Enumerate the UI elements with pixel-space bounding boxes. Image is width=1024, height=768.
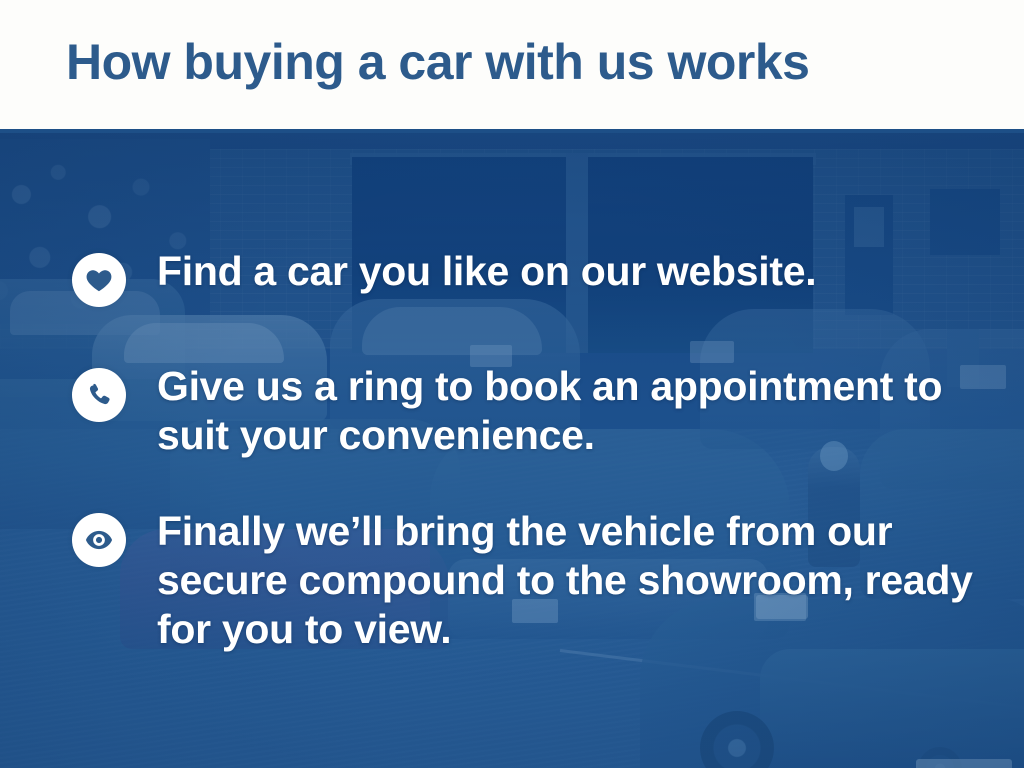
eye-icon [72, 513, 126, 567]
promo-slide: How buying a car with us works Find a ca… [0, 0, 1024, 768]
list-item-step-2: Give us a ring to book an appointment to… [72, 362, 997, 460]
header-band: How buying a car with us works [0, 0, 1024, 129]
heart-icon [72, 253, 126, 307]
list-item-step-1: Find a car you like on our website. [72, 247, 816, 307]
phone-icon [72, 368, 126, 422]
step-text: Find a car you like on our website. [157, 247, 816, 296]
step-text: Give us a ring to book an appointment to… [157, 362, 997, 460]
page-title: How buying a car with us works [66, 35, 809, 90]
steps-list: Find a car you like on our website. Give… [0, 129, 1024, 768]
header-divider [0, 129, 1024, 133]
step-text: Finally we’ll bring the vehicle from our… [157, 507, 997, 654]
list-item-step-3: Finally we’ll bring the vehicle from our… [72, 507, 997, 654]
